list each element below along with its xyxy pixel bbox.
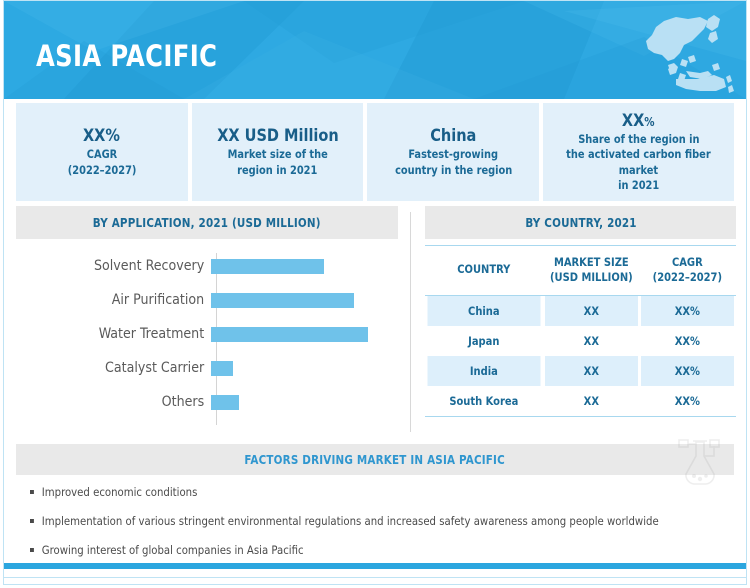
lab-flask-icon xyxy=(674,436,726,486)
chart-row: Water Treatment xyxy=(16,317,396,351)
kpi-value-region-share-percent: % xyxy=(645,115,655,129)
bottom-thin-rule xyxy=(4,577,746,578)
chart-category-label: Air Purification xyxy=(22,292,210,308)
column-header-market-size-line2: (USD MILLION) xyxy=(550,270,633,284)
country-table: COUNTRY MARKET SIZE (USD MILLION) CAGR (… xyxy=(425,245,736,417)
asia-pacific-infographic: ASIA PACIFIC XX% CAGR (2 xyxy=(0,0,750,588)
asia-pacific-map-icon xyxy=(630,9,734,93)
kpi-card-cagr: XX% CAGR (2022–2027) xyxy=(16,103,188,201)
country-table-header-row: COUNTRY MARKET SIZE (USD MILLION) CAGR (… xyxy=(425,246,736,296)
cagr-cell: XX% xyxy=(641,295,734,326)
kpi-card-region-share: XX% Share of the region in the activated… xyxy=(543,103,734,201)
kpi-label-market-size-line1: Market size of the xyxy=(227,147,327,162)
application-bar-chart: Solvent RecoveryAir PurificationWater Tr… xyxy=(16,249,396,429)
application-panel: BY APPLICATION, 2021 (USD MILLION) Solve… xyxy=(4,206,410,438)
application-section-header: BY APPLICATION, 2021 (USD MILLION) xyxy=(16,206,398,239)
cagr-cell: XX% xyxy=(641,326,734,356)
kpi-value-market-size: XX USD Million xyxy=(217,126,339,147)
market-size-cell: XX xyxy=(545,356,638,386)
chart-row: Catalyst Carrier xyxy=(16,351,396,385)
list-item-label: Implementation of various stringent envi… xyxy=(42,514,659,528)
kpi-label-cagr-line1: CAGR xyxy=(87,147,117,162)
chart-bar xyxy=(211,395,239,410)
chart-category-label: Others xyxy=(22,394,210,410)
chart-category-label: Catalyst Carrier xyxy=(22,360,210,376)
chart-bar xyxy=(211,293,354,308)
country-cell: India xyxy=(427,356,540,386)
country-panel: BY COUNTRY, 2021 COUNTRY MARKET SIZE (US… xyxy=(411,206,746,438)
kpi-value-region-share-number: XX xyxy=(622,111,644,131)
header-banner: ASIA PACIFIC xyxy=(4,1,746,99)
column-header-market-size: MARKET SIZE (USD MILLION) xyxy=(545,246,638,296)
country-table-head: COUNTRY MARKET SIZE (USD MILLION) CAGR (… xyxy=(425,246,736,296)
kpi-label-fastest-growing-line1: Fastest-growing xyxy=(408,147,498,162)
kpi-card-market-size: XX USD Million Market size of the region… xyxy=(192,103,364,201)
country-cell: Japan xyxy=(427,326,540,356)
chart-row: Solvent Recovery xyxy=(16,249,396,283)
kpi-label-market-size-line2: region in 2021 xyxy=(237,163,317,178)
chart-bar xyxy=(211,361,233,376)
country-cell: China xyxy=(427,295,540,326)
application-section-title: BY APPLICATION, 2021 (USD MILLION) xyxy=(93,216,321,230)
list-item: Improved economic conditions xyxy=(30,486,718,500)
kpi-label-cagr-line2: (2022–2027) xyxy=(68,163,137,178)
page-title: ASIA PACIFIC xyxy=(36,39,217,73)
country-section-title: BY COUNTRY, 2021 xyxy=(525,216,636,230)
list-item: Implementation of various stringent envi… xyxy=(30,515,718,529)
list-item-label: Improved economic conditions xyxy=(42,485,198,499)
kpi-value-cagr: XX% xyxy=(83,126,120,147)
column-header-cagr: CAGR (2022–2027) xyxy=(641,246,734,296)
bullet-icon xyxy=(30,490,34,494)
table-row: South KoreaXXXX% xyxy=(425,386,736,417)
bottom-accent-bar xyxy=(4,563,746,569)
cagr-cell: XX% xyxy=(641,386,734,417)
kpi-value-fastest-growing-country: China xyxy=(430,126,476,147)
kpi-label-region-share-line2: the activated carbon fiber market xyxy=(554,147,724,177)
kpi-value-region-share: XX% xyxy=(622,111,655,132)
table-row: JapanXXXX% xyxy=(425,326,736,356)
factors-section-title: FACTORS DRIVING MARKET IN ASIA PACIFIC xyxy=(245,453,505,467)
column-header-market-size-line1: MARKET SIZE xyxy=(554,255,629,269)
list-item: Growing interest of global companies in … xyxy=(30,544,718,558)
country-section-header: BY COUNTRY, 2021 xyxy=(425,206,736,239)
chart-bar-rows: Solvent RecoveryAir PurificationWater Tr… xyxy=(16,249,396,419)
market-size-cell: XX xyxy=(545,295,638,326)
column-header-cagr-line2: (2022–2027) xyxy=(653,270,722,284)
cagr-cell: XX% xyxy=(641,356,734,386)
chart-category-label: Water Treatment xyxy=(22,326,210,342)
bullet-icon xyxy=(30,519,34,523)
column-header-cagr-line1: CAGR xyxy=(672,255,703,269)
factors-list: Improved economic conditionsImplementati… xyxy=(4,486,746,557)
kpi-card-fastest-growing-country: China Fastest-growing country in the reg… xyxy=(367,103,539,201)
kpi-card-strip: XX% CAGR (2022–2027) XX USD Million Mark… xyxy=(4,103,746,201)
kpi-label-region-share-line3: in 2021 xyxy=(618,178,659,193)
country-cell: South Korea xyxy=(427,386,540,417)
bullet-icon xyxy=(30,548,34,552)
chart-category-label: Solvent Recovery xyxy=(22,258,210,274)
table-row: ChinaXXXX% xyxy=(425,295,736,326)
table-row: IndiaXXXX% xyxy=(425,356,736,386)
list-item-label: Growing interest of global companies in … xyxy=(42,543,304,557)
factors-section-header: FACTORS DRIVING MARKET IN ASIA PACIFIC xyxy=(16,444,734,475)
main-panels: BY APPLICATION, 2021 (USD MILLION) Solve… xyxy=(4,206,746,438)
kpi-label-fastest-growing-line2: country in the region xyxy=(395,163,512,178)
column-header-country-line1: COUNTRY xyxy=(457,262,510,276)
market-size-cell: XX xyxy=(545,326,638,356)
kpi-label-region-share-line1: Share of the region in xyxy=(578,132,699,147)
market-size-cell: XX xyxy=(545,386,638,417)
country-table-body: ChinaXXXX%JapanXXXX%IndiaXXXX%South Kore… xyxy=(425,295,736,416)
chart-bar xyxy=(211,327,368,342)
chart-bar xyxy=(211,259,324,274)
column-header-country: COUNTRY xyxy=(427,246,540,296)
factors-section: FACTORS DRIVING MARKET IN ASIA PACIFIC I… xyxy=(4,444,746,556)
chart-row: Others xyxy=(16,385,396,419)
chart-row: Air Purification xyxy=(16,283,396,317)
